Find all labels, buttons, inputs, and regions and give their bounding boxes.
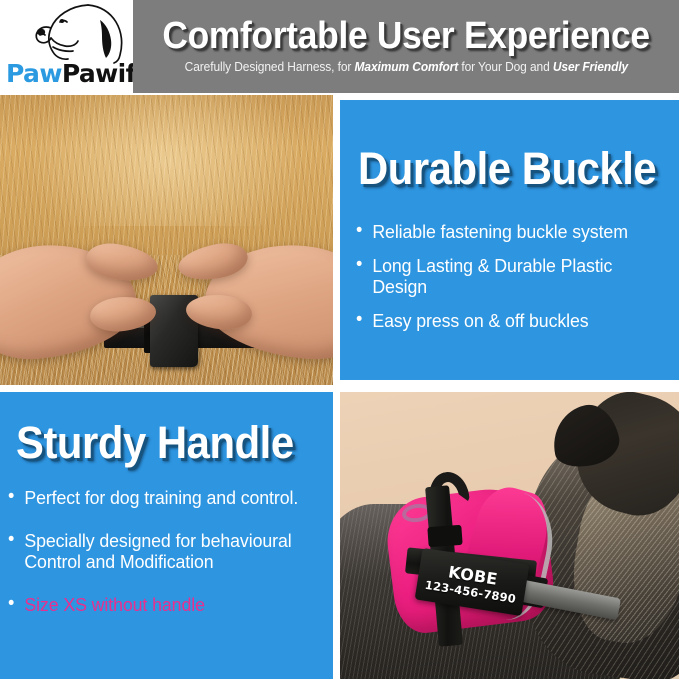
durable-buckle-bullets: Reliable fastening buckle system Long La…	[356, 221, 666, 331]
header-title: Comfortable User Experience	[162, 17, 649, 57]
list-item: Perfect for dog training and control.	[8, 487, 315, 508]
dog-head-icon	[26, 2, 130, 64]
buckle-photo	[0, 95, 333, 385]
header-text-group: Comfortable User Experience Carefully De…	[133, 0, 679, 93]
harness-photo: KOBE 123-456-7890	[340, 392, 679, 679]
subtitle-emphasis-2: User Friendly	[552, 60, 627, 74]
list-item-size-note: Size XS without handle	[8, 594, 315, 615]
sturdy-handle-panel: Sturdy Handle Perfect for dog training a…	[0, 392, 333, 679]
header-banner: PawPawify Comfortable User Experience Ca…	[0, 0, 679, 93]
product-infographic: PawPawify Comfortable User Experience Ca…	[0, 0, 679, 679]
subtitle-part-1: Carefully Designed Harness, for	[184, 60, 354, 74]
subtitle-emphasis-1: Maximum Comfort	[354, 60, 458, 74]
brand-wordmark: PawPawify	[6, 59, 133, 88]
sturdy-handle-title: Sturdy Handle	[16, 420, 311, 465]
list-item: Easy press on & off buckles	[356, 310, 654, 331]
brand-word-second: Pawify	[62, 59, 133, 88]
harness-adjuster-buckle	[427, 525, 462, 547]
header-subtitle: Carefully Designed Harness, for Maximum …	[184, 60, 627, 74]
list-item: Long Lasting & Durable Plastic Design	[356, 255, 654, 297]
sturdy-handle-bullets: Perfect for dog training and control. Sp…	[8, 487, 328, 615]
durable-buckle-title: Durable Buckle	[358, 146, 657, 191]
harness-photo-panel: KOBE 123-456-7890	[340, 392, 679, 679]
list-item: Reliable fastening buckle system	[356, 221, 654, 242]
brand-logo: PawPawify	[0, 0, 133, 93]
brand-word-first: Paw	[6, 59, 62, 88]
buckle-photo-panel	[0, 95, 333, 385]
subtitle-part-2: for Your Dog and	[458, 60, 553, 74]
durable-buckle-panel: Durable Buckle Reliable fastening buckle…	[340, 100, 679, 380]
list-item: Specially designed for behavioural Contr…	[8, 530, 315, 572]
